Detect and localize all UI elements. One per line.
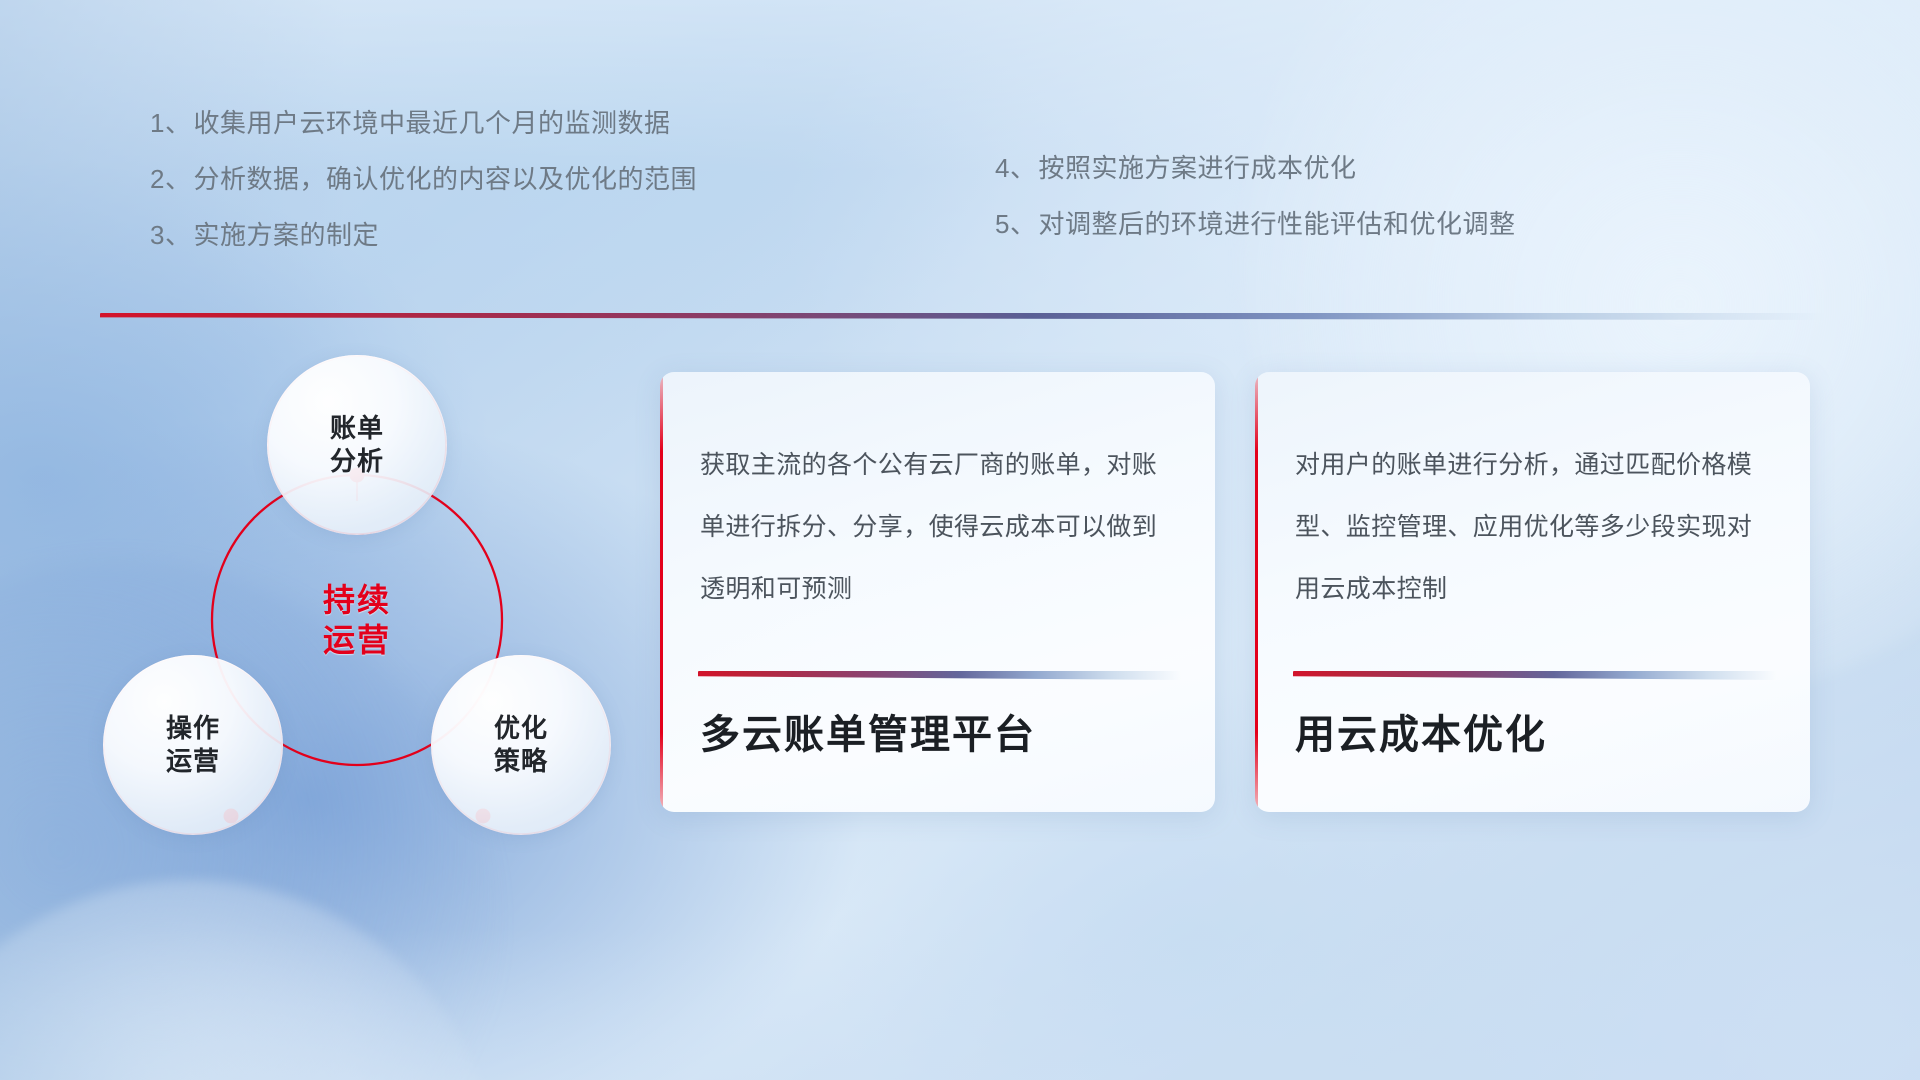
- card-accent-rule: [1293, 671, 1776, 680]
- card-description: 对用户的账单进行分析，通过匹配价格模型、监控管理、应用优化等多少段实现对用云成本…: [1255, 372, 1810, 620]
- bullet-number: 3、: [150, 220, 191, 250]
- venn-diagram: 账单 分析 操作 运营 优化 策略 持续 运营: [95, 355, 615, 935]
- bullet-list-left: 1、收集用户云环境中最近几个月的监测数据 2、分析数据，确认优化的内容以及优化的…: [150, 110, 850, 248]
- bullet-number: 4、: [995, 153, 1036, 183]
- bullet-text: 分析数据，确认优化的内容以及优化的范围: [193, 164, 697, 194]
- feature-card-multicloud-billing[interactable]: 获取主流的各个公有云厂商的账单，对账单进行拆分、分享，使得云成本可以做到透明和可…: [660, 372, 1215, 812]
- bullet-list-right: 4、按照实施方案进行成本优化 5、对调整后的环境进行性能评估和优化调整: [995, 155, 1755, 237]
- card-description: 获取主流的各个公有云厂商的账单，对账单进行拆分、分享，使得云成本可以做到透明和可…: [660, 372, 1215, 620]
- venn-center-label: 持续 运营: [267, 550, 447, 690]
- venn-circle-billing-analysis[interactable]: 账单 分析: [267, 355, 447, 535]
- card-title: 用云成本优化: [1295, 702, 1547, 760]
- venn-center-label-line1: 持续: [323, 580, 391, 620]
- bullet-text: 实施方案的制定: [193, 220, 379, 250]
- bullet-number: 1、: [150, 108, 191, 138]
- venn-circle-label-line1: 账单: [330, 412, 384, 445]
- card-accent-rule: [698, 671, 1181, 680]
- bullet-item: 3、实施方案的制定: [150, 222, 850, 248]
- venn-circle-operations[interactable]: 操作 运营: [103, 655, 283, 835]
- venn-circle-optimization-strategy[interactable]: 优化 策略: [431, 655, 611, 835]
- bullet-number: 2、: [150, 164, 191, 194]
- feature-card-cost-optimization[interactable]: 对用户的账单进行分析，通过匹配价格模型、监控管理、应用优化等多少段实现对用云成本…: [1255, 372, 1810, 812]
- bullet-text: 收集用户云环境中最近几个月的监测数据: [193, 108, 670, 138]
- bullet-item: 1、收集用户云环境中最近几个月的监测数据: [150, 110, 850, 136]
- venn-circle-label-line1: 操作: [166, 712, 220, 745]
- bullet-item: 5、对调整后的环境进行性能评估和优化调整: [995, 211, 1755, 237]
- venn-circle-label-line2: 分析: [330, 445, 384, 478]
- bullet-text: 对调整后的环境进行性能评估和优化调整: [1038, 209, 1515, 239]
- bullet-item: 4、按照实施方案进行成本优化: [995, 155, 1755, 181]
- bullet-number: 5、: [995, 209, 1036, 239]
- card-title: 多云账单管理平台: [700, 702, 1036, 760]
- venn-circle-label-line2: 策略: [494, 745, 548, 778]
- venn-center-label-line2: 运营: [323, 620, 391, 660]
- bullet-text: 按照实施方案进行成本优化: [1038, 153, 1356, 183]
- venn-circle-label-line1: 优化: [494, 712, 548, 745]
- bullet-item: 2、分析数据，确认优化的内容以及优化的范围: [150, 166, 850, 192]
- venn-circle-label-line2: 运营: [166, 745, 220, 778]
